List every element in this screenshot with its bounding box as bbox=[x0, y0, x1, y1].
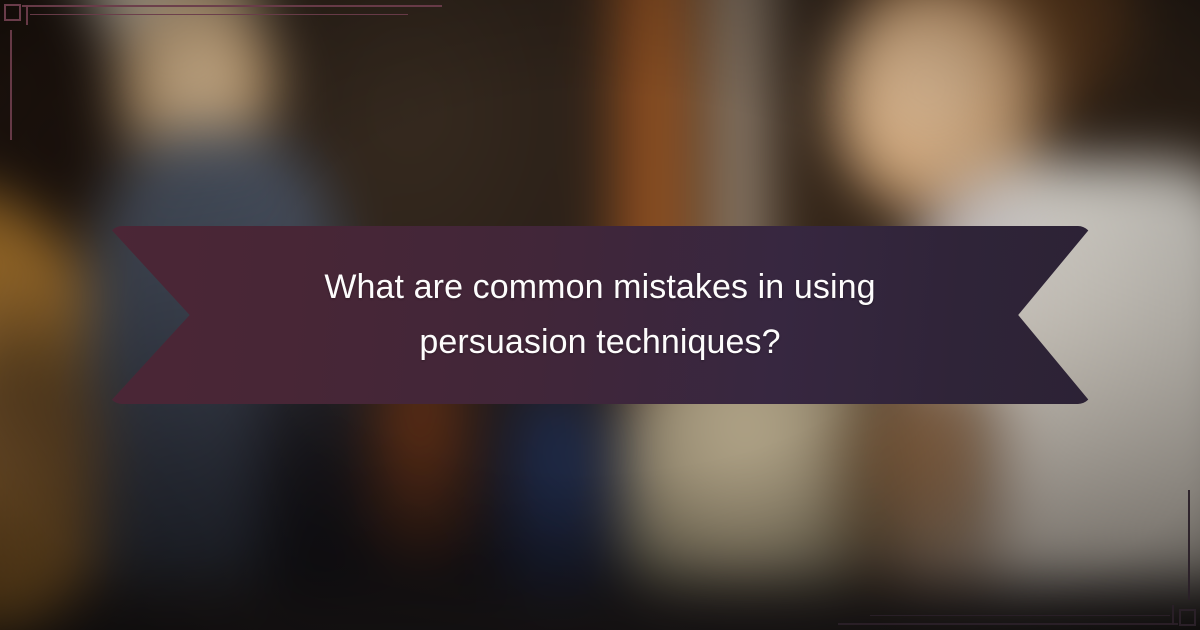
card-canvas: What are common mistakes in using persua… bbox=[0, 0, 1200, 630]
banner-headline: What are common mistakes in using persua… bbox=[108, 226, 1092, 404]
headline-line-2: persuasion techniques? bbox=[419, 316, 780, 369]
headline-line-1: What are common mistakes in using bbox=[324, 261, 875, 314]
person-far-right-shoulder bbox=[0, 384, 112, 596]
question-banner: What are common mistakes in using persua… bbox=[108, 226, 1092, 404]
person-center-blue-shirt bbox=[494, 384, 621, 596]
